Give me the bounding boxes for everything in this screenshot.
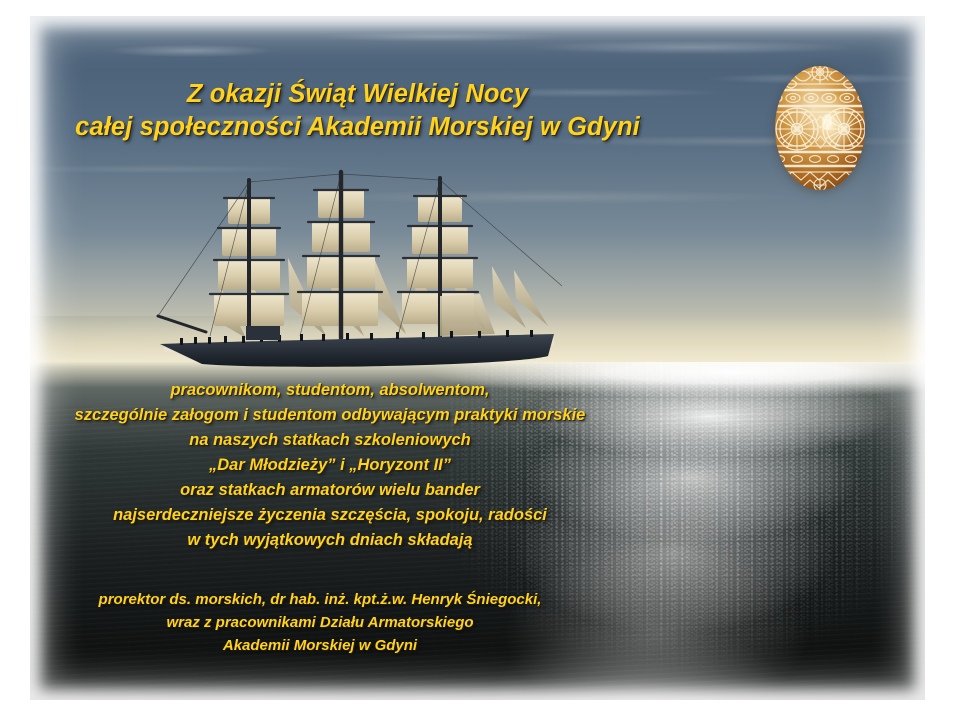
title-line-2: całej społeczności Akademii Morskiej w G… (0, 111, 715, 144)
greeting-line: na naszych statkach szkoleniowych (0, 428, 660, 453)
signature-line: Akademii Morskiej w Gdyni (0, 634, 640, 657)
signature-line: wraz z pracownikami Działu Armatorskiego (0, 611, 640, 634)
decorated-easter-egg-pisanka (765, 54, 875, 196)
signature-line: prorektor ds. morskich, dr hab. inż. kpt… (0, 588, 640, 611)
card-title: Z okazji Świąt Wielkiej Nocy całej społe… (0, 78, 715, 144)
greeting-line: szczególnie załogom i studentom odbywają… (0, 403, 660, 428)
greeting-card: Z okazji Świąt Wielkiej Nocy całej społe… (0, 0, 960, 720)
greeting-line: pracownikom, studentom, absolwentom, (0, 378, 660, 403)
greeting-line: oraz statkach armatorów wielu bander (0, 478, 660, 503)
greeting-line: w tych wyjątkowych dniach składają (0, 528, 660, 553)
greeting-line: „Dar Młodzieży” i „Horyzont II” (0, 453, 660, 478)
greeting-line: najserdeczniejsze życzenia szczęścia, sp… (0, 503, 660, 528)
title-line-1: Z okazji Świąt Wielkiej Nocy (0, 78, 715, 111)
greeting-body: pracownikom, studentom, absolwentom, szc… (0, 378, 660, 553)
tall-ship-silhouette (150, 166, 570, 381)
signature-block: prorektor ds. morskich, dr hab. inż. kpt… (0, 588, 640, 657)
